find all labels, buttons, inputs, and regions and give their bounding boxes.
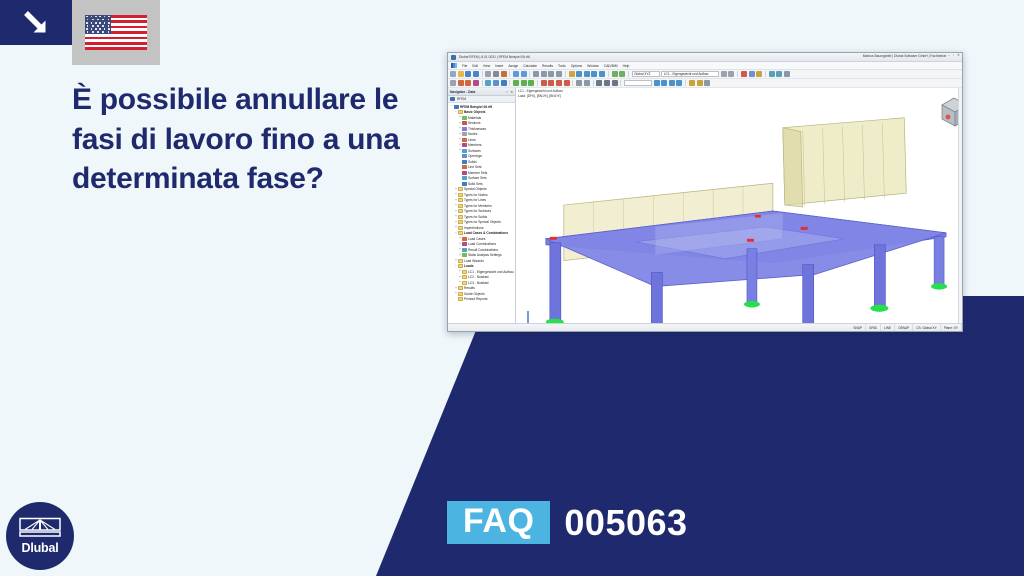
folder-icon	[458, 259, 463, 263]
folder-icon	[458, 220, 463, 224]
print-preview-icon[interactable]	[493, 71, 499, 77]
folder-icon	[458, 215, 463, 219]
grid-icon[interactable]	[541, 71, 547, 77]
line-icon	[462, 138, 467, 142]
undo-icon[interactable]	[513, 71, 519, 77]
view-cube-icon[interactable]	[934, 93, 956, 115]
toolbar-separator	[509, 80, 510, 86]
solid-tool-icon[interactable]	[501, 80, 507, 86]
wall-panel-group-back	[783, 118, 906, 207]
top-view-icon[interactable]	[669, 80, 675, 86]
rfem-tab-icon	[450, 97, 455, 101]
member-tool-icon[interactable]	[473, 80, 479, 86]
statusbar-osnap[interactable]: OSNAP	[895, 324, 913, 331]
tree-item-label: Sections	[468, 121, 480, 125]
visibility-icon[interactable]	[689, 80, 695, 86]
line-load-icon[interactable]	[548, 80, 554, 86]
app-toolbar-secondary[interactable]	[448, 79, 962, 88]
menu-item-options[interactable]: Options	[571, 64, 582, 68]
app-title: Dlubal RFEM | 6.01.0031 | RFEM Beispiel …	[459, 55, 530, 59]
front-view-icon[interactable]	[661, 80, 667, 86]
mesh-settings-icon[interactable]	[584, 80, 590, 86]
window-controls[interactable]: – ▫ ✕	[948, 54, 960, 58]
menu-item-file[interactable]: File	[462, 64, 467, 68]
pin-button[interactable]: ⌐	[506, 90, 508, 94]
dimension-icon[interactable]	[596, 80, 602, 86]
tree-item-label: Lines	[468, 138, 476, 142]
app-titlebar: Dlubal RFEM | 6.01.0031 | RFEM Beispiel …	[448, 53, 962, 62]
tree-item-label: Types for Surfaces	[464, 209, 491, 213]
zoom-in-icon[interactable]	[591, 71, 597, 77]
side-view-icon[interactable]	[676, 80, 682, 86]
next-load-case-icon[interactable]	[728, 71, 734, 77]
rfem-app-icon	[451, 55, 456, 60]
tree-item-label: Types for Solids	[464, 215, 487, 219]
free-load-icon[interactable]	[564, 80, 570, 86]
prev-load-case-icon[interactable]	[721, 71, 727, 77]
toolbar-separator	[572, 80, 573, 86]
calculate-icon[interactable]	[756, 71, 762, 77]
tree-item-label: LC2 - Nutzlast	[468, 275, 489, 279]
tree-item-label: Types for Special Objects	[464, 220, 501, 224]
tree-item-label: Member Sets	[468, 171, 487, 175]
tree-item-label: Solid Sets	[468, 182, 483, 186]
navigator-panel[interactable]: Navigator - Data ⌐ ✕ RFEM −RFEM Beispiel…	[448, 88, 516, 332]
folder-icon	[458, 286, 463, 290]
statusbar-snap[interactable]: SNAP	[850, 324, 866, 331]
line-icon	[462, 165, 467, 169]
solid-icon	[462, 182, 467, 186]
toolbar-separator	[529, 71, 530, 77]
hinge-tool-icon[interactable]	[521, 80, 527, 86]
app-statusbar: SNAP GRID LINE OSNAP CS: Global XY Plane…	[448, 323, 962, 331]
folder-icon	[458, 297, 463, 301]
rotate-icon[interactable]	[576, 71, 582, 77]
surface-load-icon[interactable]	[556, 80, 562, 86]
show-loads-icon[interactable]	[741, 71, 747, 77]
tree-item-label: Types for Members	[464, 204, 492, 208]
results-icon[interactable]	[769, 71, 775, 77]
app-body: Navigator - Data ⌐ ✕ RFEM −RFEM Beispiel…	[448, 88, 962, 332]
support-tool-icon[interactable]	[513, 80, 519, 86]
tree-item-label: Load Cases & Combinations	[464, 231, 508, 235]
dlubal-logo: Dlubal	[6, 502, 74, 570]
menu-item-view[interactable]: View	[483, 64, 490, 68]
model-icon	[454, 105, 459, 109]
tree-item-label: Guide Objects	[464, 292, 485, 296]
minimize-button[interactable]: –	[948, 54, 950, 58]
flag-canton	[85, 15, 111, 34]
opening-tool-icon[interactable]	[493, 80, 499, 86]
surf-icon	[462, 176, 467, 180]
settings-icon[interactable]	[784, 71, 790, 77]
folder-icon	[458, 110, 463, 114]
tree-item-label: Members	[468, 143, 482, 147]
member-icon	[462, 242, 467, 246]
navigator-header: Navigator - Data ⌐ ✕	[448, 88, 515, 96]
folder-icon	[462, 275, 467, 279]
redo-icon[interactable]	[521, 71, 527, 77]
arrow-down-right-icon	[0, 0, 72, 45]
dlubal-bridge-icon	[19, 517, 61, 539]
app-toolbar-primary[interactable]: Global XYZ LC1 - Eigengewicht und Aufbau	[448, 70, 962, 79]
tree-item-label: Static Analysis Settings	[468, 253, 502, 257]
statusbar-plane: Plane: XY	[941, 324, 962, 331]
toolbar-separator	[628, 71, 629, 77]
tree-item-label: Load Wizards	[464, 259, 484, 263]
rfem-menu-logo-icon	[451, 63, 457, 68]
menu-item-edit[interactable]: Edit	[472, 64, 478, 68]
tree-item-label: LC1 - Eigengewicht und Aufbau	[468, 270, 514, 274]
snap-icon[interactable]	[548, 71, 554, 77]
folder-icon	[462, 270, 467, 274]
line-tool-icon[interactable]	[458, 80, 464, 86]
navigator-tabs[interactable]: RFEM	[448, 96, 515, 103]
folder-icon	[458, 292, 463, 296]
save-all-icon[interactable]	[473, 71, 479, 77]
navigator-tree[interactable]: −RFEM Beispiel 06.rf6−Basic Objects+Mate…	[448, 103, 515, 324]
new-icon[interactable]	[450, 71, 456, 77]
tree-item-label: RFEM Beispiel 06.rf6	[460, 105, 492, 109]
maximize-button[interactable]: ▫	[953, 54, 954, 58]
folder-icon	[458, 226, 463, 230]
select-icon[interactable]	[569, 71, 575, 77]
tree-item-label: Results	[464, 286, 475, 290]
render-wire-icon[interactable]	[619, 71, 625, 77]
navigator-header-buttons[interactable]: ⌐ ✕	[506, 90, 513, 94]
menu-item-results[interactable]: Results	[542, 64, 553, 68]
model-viewport[interactable]: LC1 - Eigengewicht und Aufbau Load: [DFK…	[516, 88, 962, 332]
tree-item-label: Openings	[468, 154, 482, 158]
thick-icon	[462, 127, 467, 131]
folder-icon	[458, 198, 463, 202]
tree-item-label: Solids	[468, 160, 477, 164]
arc-tool-icon[interactable]	[465, 80, 471, 86]
tree-item-label: Surfaces	[468, 149, 481, 153]
surf-icon	[462, 149, 467, 153]
app-menubar[interactable]: File Edit View Insert Assign Calculate R…	[448, 62, 962, 70]
navigator-title: Navigator - Data	[450, 90, 475, 94]
toolbar-separator	[593, 80, 594, 86]
report-icon[interactable]	[501, 71, 507, 77]
toolbar-separator	[685, 80, 686, 86]
measure-icon[interactable]	[604, 80, 610, 86]
statusbar-grid[interactable]: GRID	[866, 324, 881, 331]
stiffness-tool-icon[interactable]	[528, 80, 534, 86]
structural-model-3d[interactable]	[516, 88, 962, 332]
filter-icon[interactable]	[704, 80, 710, 86]
tree-item-label: Basic Objects	[464, 110, 486, 114]
tree-item-label: Types for Nodes	[464, 193, 488, 197]
open-icon	[462, 154, 467, 158]
isometric-view-icon[interactable]	[654, 80, 660, 86]
faq-number: 005063	[564, 505, 687, 541]
results-table-icon[interactable]	[776, 71, 782, 77]
toolbar-separator	[482, 80, 483, 86]
folder-icon	[458, 264, 463, 268]
tree-item-label: Loads	[464, 264, 474, 268]
menu-item-calculate[interactable]: Calculate	[523, 64, 537, 68]
navigator-tab-label[interactable]: RFEM	[457, 97, 466, 101]
faq-footer: FAQ 005063	[447, 501, 688, 544]
zoom-fit-icon[interactable]	[599, 71, 605, 77]
statusbar-coordinate-system: CS: Global XY	[913, 324, 941, 331]
member-icon	[462, 143, 467, 147]
comment-icon[interactable]	[612, 80, 618, 86]
folder-icon	[458, 193, 463, 197]
folder-icon	[458, 209, 463, 213]
toolbar-separator	[765, 71, 766, 77]
tree-item-label: Load Cases	[468, 237, 485, 241]
toolbar-separator	[620, 80, 621, 86]
menu-item-assign[interactable]: Assign	[508, 64, 518, 68]
nodal-load-icon[interactable]	[541, 80, 547, 86]
toolbar-separator	[565, 71, 566, 77]
mesh-icon[interactable]	[576, 80, 582, 86]
flag-stripes	[85, 15, 147, 50]
mat-icon	[462, 253, 467, 257]
mat-icon	[462, 116, 467, 120]
surface-tool-icon[interactable]	[485, 80, 491, 86]
load-case-combo[interactable]: LC1 - Eigengewicht und Aufbau	[661, 71, 719, 77]
dlubal-wordmark: Dlubal	[22, 541, 59, 555]
pan-icon[interactable]	[584, 71, 590, 77]
layer-icon[interactable]	[697, 80, 703, 86]
tree-item-label: Thicknesses	[468, 127, 486, 131]
node-icon	[462, 132, 467, 136]
folder-icon	[462, 281, 467, 285]
toolbar-separator	[482, 71, 483, 77]
node-tool-icon[interactable]	[450, 80, 456, 86]
tree-item-label: Load Combinations	[468, 242, 496, 246]
toolbar-separator	[608, 71, 609, 77]
page-title: È possibile annullare le fasi di lavoro …	[72, 80, 452, 199]
tree-item[interactable]: Printout Reports	[448, 297, 515, 303]
menu-item-tools[interactable]: Tools	[558, 64, 566, 68]
view-preset-combo[interactable]	[624, 80, 652, 86]
tree-item-label: Special Objects	[464, 187, 487, 191]
tree-item-label: Materials	[468, 116, 481, 120]
tree-item-label: Result Combinations	[468, 248, 498, 252]
license-label: Markus Baumgärtel | Dlubal Software GmbH…	[863, 54, 946, 58]
sec-icon	[462, 121, 467, 125]
menu-item-window[interactable]: Window	[587, 64, 599, 68]
folder-icon	[458, 204, 463, 208]
coordinate-system-combo[interactable]: Global XYZ	[632, 71, 660, 77]
viewport-vertical-scrollbar[interactable]	[958, 88, 962, 332]
surf-icon	[462, 248, 467, 252]
toolbar-separator	[737, 71, 738, 77]
save-icon[interactable]	[465, 71, 471, 77]
close-button[interactable]: ✕	[957, 54, 960, 58]
tree-item-label: Nodes	[468, 132, 477, 136]
toolbar-separator	[509, 71, 510, 77]
tree-item-label: Imperfections	[464, 226, 484, 230]
open-icon[interactable]	[458, 71, 464, 77]
member-icon	[462, 171, 467, 175]
toolbar-separator	[537, 80, 538, 86]
arrow-block	[0, 0, 72, 45]
folder-icon	[458, 231, 463, 235]
solid-icon	[462, 160, 467, 164]
line-icon	[462, 237, 467, 241]
render-solid-icon[interactable]	[612, 71, 618, 77]
menu-item-insert[interactable]: Insert	[495, 64, 503, 68]
faq-badge: FAQ	[447, 501, 550, 544]
close-panel-button[interactable]: ✕	[510, 90, 513, 94]
tree-item-label: Types for Lines	[464, 198, 486, 202]
navigator-bottom-buttons[interactable]	[448, 331, 515, 332]
tree-item-label: Printout Reports	[464, 297, 487, 301]
tree-item-label: LC3 - Nutzlast	[468, 281, 489, 285]
menu-item-cadbim[interactable]: CAD/BIM	[604, 64, 618, 68]
tree-item-label: Line Sets	[468, 165, 482, 169]
guideline-icon[interactable]	[556, 71, 562, 77]
deformation-icon[interactable]	[749, 71, 755, 77]
table-icon[interactable]	[533, 71, 539, 77]
folder-icon	[458, 187, 463, 191]
flag-usa-icon	[72, 0, 160, 65]
statusbar-line[interactable]: LINE	[881, 324, 895, 331]
rfem-application-screenshot: Dlubal RFEM | 6.01.0031 | RFEM Beispiel …	[447, 52, 963, 332]
print-icon[interactable]	[485, 71, 491, 77]
menu-item-help[interactable]: Help	[623, 64, 630, 68]
tree-item-label: Surface Sets	[468, 176, 487, 180]
